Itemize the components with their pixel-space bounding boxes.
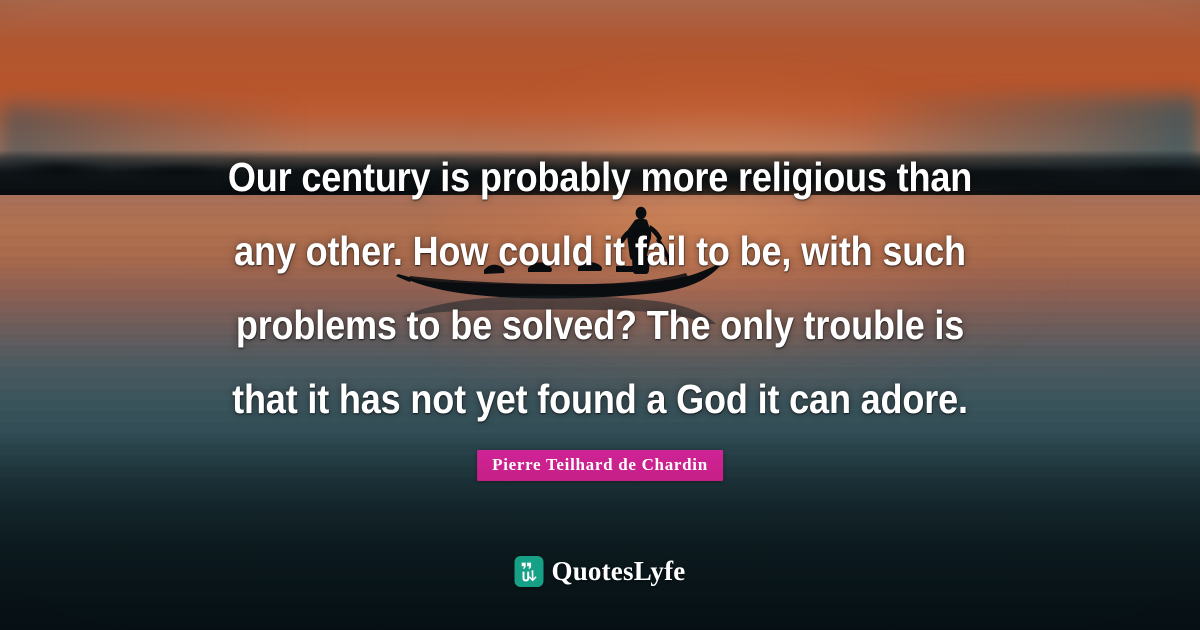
quote-line-4: that it has not yet found a God it can a… (72, 362, 1128, 436)
quote-mark-icon (515, 556, 544, 587)
quote-line-1: Our century is probably more religious t… (72, 140, 1128, 214)
quote-text: Our century is probably more religious t… (0, 140, 1200, 436)
quote-line-3: problems to be solved? The only trouble … (72, 288, 1128, 362)
quote-line-2: any other. How could it fail to be, with… (72, 214, 1128, 288)
quote-image-canvas: Our century is probably more religious t… (0, 0, 1200, 630)
author-badge[interactable]: Pierre Teilhard de Chardin (477, 450, 723, 481)
quoteslyfe-logo[interactable]: QuotesLyfe (515, 556, 686, 587)
logo-wordmark: QuotesLyfe (552, 556, 686, 587)
